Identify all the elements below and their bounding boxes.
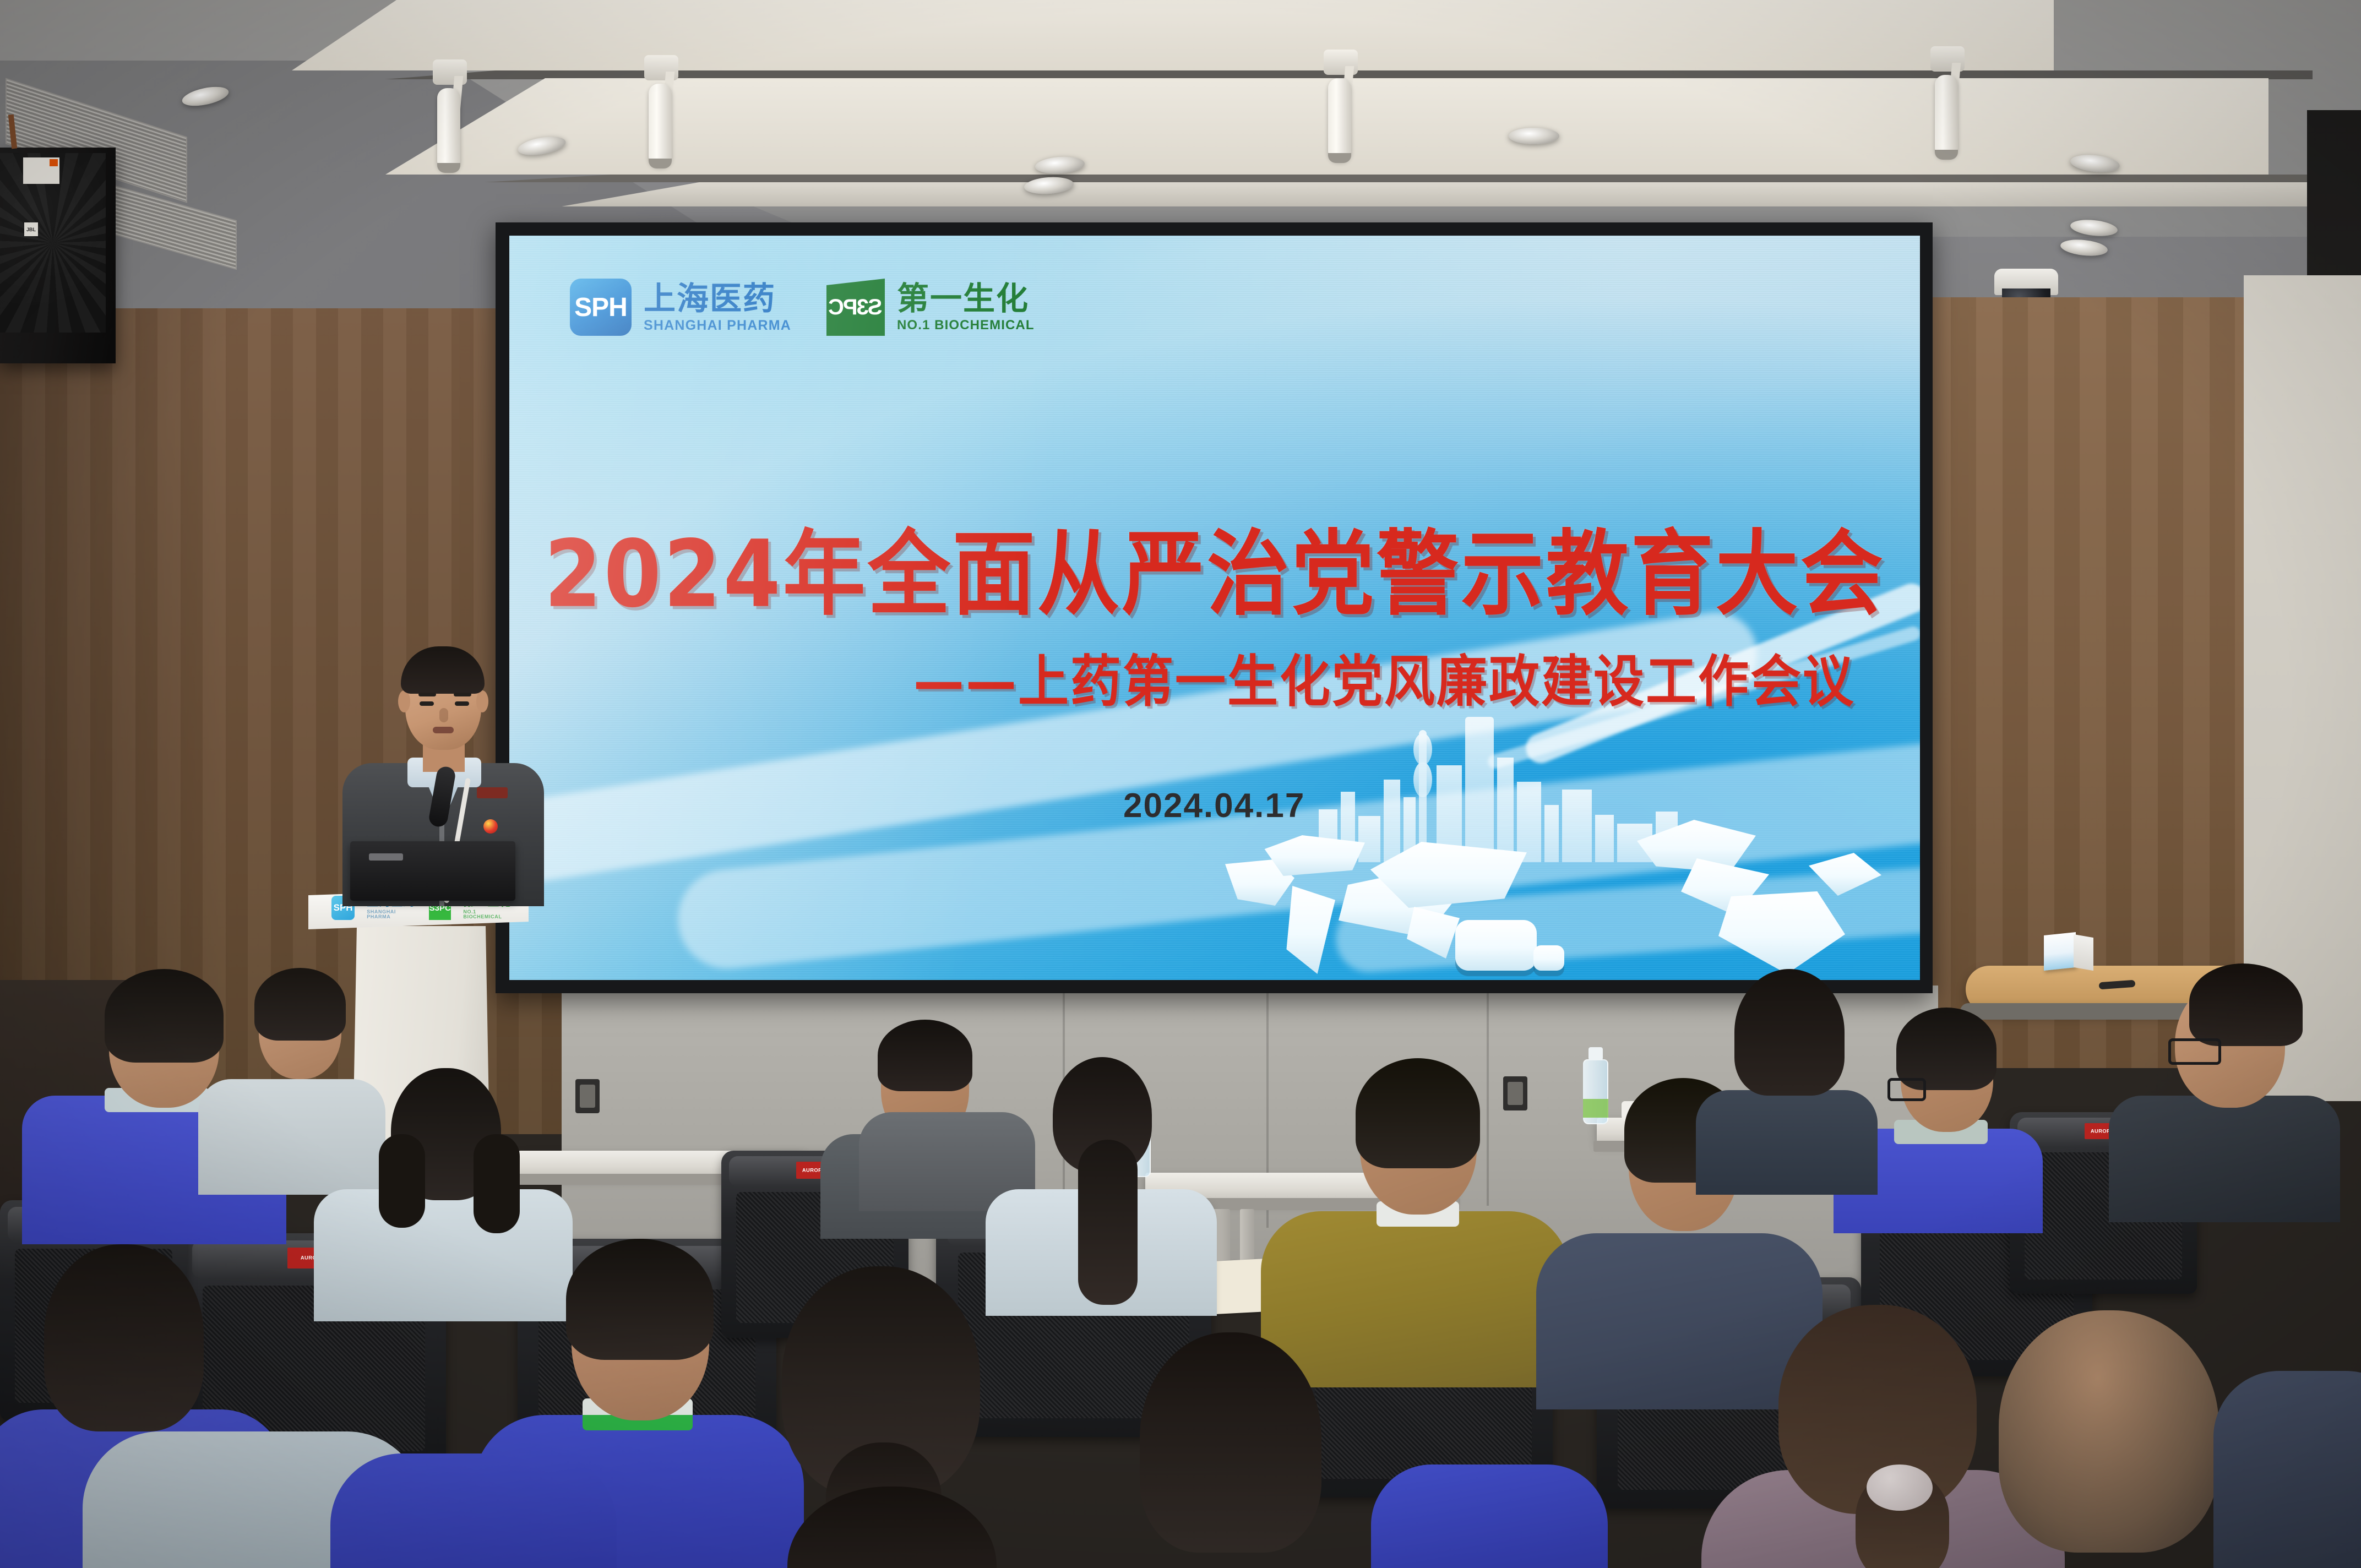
lectern-sph-en: SHANGHAI PHARMA [367,910,417,919]
speaker-mouth [433,727,454,733]
bottle-cap [1588,1047,1603,1060]
speaker-hair [401,646,485,694]
audience-member [1696,952,1878,1195]
audience-member [765,1487,1019,1568]
lectern-bio-en: NO.1 BIOCHEMICAL [463,910,512,919]
speaker-eye-right [455,701,469,706]
track-spotlight-icon [1927,46,1971,167]
speaker-name-badge [477,787,508,798]
ceiling-reveal-2 [485,175,2324,182]
speaker-ear-right [476,690,488,712]
eyeglasses-icon [1887,1078,1926,1101]
speaker-nose [439,708,448,722]
audience-member [1371,1464,1608,1568]
track-spotlight-icon [1320,50,1364,171]
track-spotlight-icon [429,59,474,181]
conference-room-photo: JBL [0,0,2361,1568]
speaker-brow-left [418,693,436,696]
presentation-screen[interactable]: SPH 上海医药 SHANGHAI PHARMA S3PC 第一生化 NO.1 … [509,236,1920,980]
audience-member [2213,1338,2361,1568]
speaker-brow-right [454,693,471,696]
track-spotlight-icon [641,55,685,176]
party-lapel-pin-icon [483,819,498,834]
lectern-laptop [350,841,515,901]
jbl-spec-label [23,157,59,184]
hair-scrunchie [1867,1464,1933,1511]
table-tent-card-back [2074,934,2093,971]
speaker-eye-left [420,701,434,706]
ceiling-panel-upper [292,0,2054,70]
jbl-logo-badge: JBL [24,222,38,236]
ponytail [1078,1140,1138,1305]
audience-member [330,1453,617,1568]
loudspeaker-jbl: JBL [0,148,116,363]
audience-member [1079,1332,1388,1568]
downlight-icon [1509,128,1559,144]
eyeglasses-icon [2168,1038,2221,1065]
audience-member [2109,958,2340,1222]
speaker-ear-left [398,690,410,712]
table-tent-card [2044,932,2076,971]
ceiling-lip [562,182,2361,206]
power-outlet [575,1079,600,1113]
screen-glare [509,236,1920,980]
